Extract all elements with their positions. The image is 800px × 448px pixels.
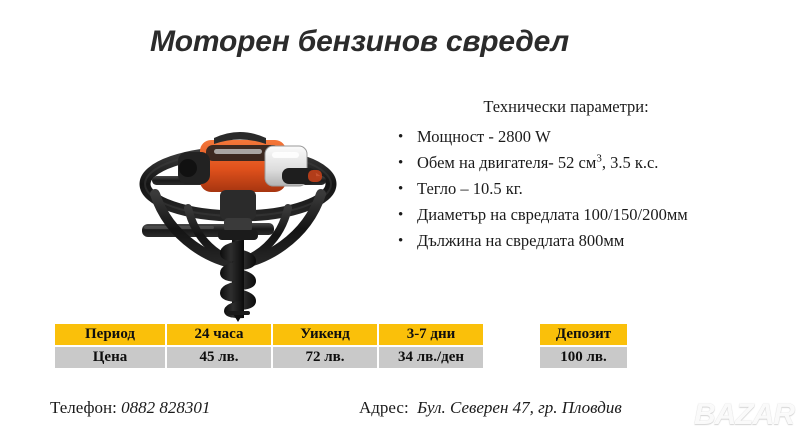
deposit-table: Депозит 100 лв. xyxy=(538,322,629,370)
value-price-label: Цена xyxy=(55,347,165,368)
value-weekend: 72 лв. xyxy=(273,347,377,368)
bullet-icon: • xyxy=(398,124,403,150)
specs-list: • Мощност - 2800 W • Обем на двигателя- … xyxy=(394,124,724,254)
deposit-row: 100 лв. xyxy=(540,347,627,368)
bullet-icon: • xyxy=(398,202,403,228)
table-row: Цена 45 лв. 72 лв. 34 лв./ден xyxy=(55,347,483,368)
spec-text: Дължина на свредлата 800мм xyxy=(417,231,624,250)
value-24h: 45 лв. xyxy=(167,347,271,368)
value-deposit: 100 лв. xyxy=(540,347,627,368)
spec-item-bit-length: • Дължина на свредлата 800мм xyxy=(394,228,724,254)
product-image xyxy=(122,72,354,322)
ad-page: Моторен бензинов свредел xyxy=(0,0,800,448)
specs-heading: Технически параметри: xyxy=(394,96,724,118)
spec-text: Диаметър на свредлата 100/150/200мм xyxy=(417,205,688,224)
gearbox xyxy=(218,190,258,240)
auger-bit xyxy=(220,240,256,322)
spec-text: Мощност - 2800 W xyxy=(417,127,551,146)
bullet-icon: • xyxy=(398,228,403,254)
value-3-7-days: 34 лв./ден xyxy=(379,347,483,368)
contact-address: Адрес: Бул. Северен 47, гр. Пловдив xyxy=(359,396,622,420)
bullet-icon: • xyxy=(398,176,403,202)
price-table: Период 24 часа Уикенд 3-7 дни Цена 45 лв… xyxy=(53,322,485,370)
spec-item-bit-diameter: • Диаметър на свредлата 100/150/200мм xyxy=(394,202,724,228)
header-weekend: Уикенд xyxy=(273,324,377,345)
phone-value[interactable]: 0882 828301 xyxy=(121,398,210,417)
address-value: Бул. Северен 47, гр. Пловдив xyxy=(417,398,622,417)
spec-text-after: , 3.5 к.с. xyxy=(602,153,659,172)
engine-block xyxy=(178,132,322,192)
table-header-row: Период 24 часа Уикенд 3-7 дни xyxy=(55,324,483,345)
bazar-watermark: BAZAR .BG xyxy=(694,398,794,440)
spec-item-weight: • Тегло – 10.5 кг. xyxy=(394,176,724,202)
header-3-7-days: 3-7 дни xyxy=(379,324,483,345)
deposit-header-row: Депозит xyxy=(540,324,627,345)
address-label: Адрес: xyxy=(359,398,409,417)
spec-text-before: Обем на двигателя- 52 см xyxy=(417,153,596,172)
bullet-icon: • xyxy=(398,150,403,176)
spec-item-displacement: • Обем на двигателя- 52 см3, 3.5 к.с. xyxy=(394,150,724,176)
specs-block: Технически параметри: • Мощност - 2800 W… xyxy=(394,96,724,254)
watermark-suffix: .BG xyxy=(694,430,794,439)
watermark-text: BAZAR xyxy=(694,398,794,432)
page-title: Моторен бензинов свредел xyxy=(150,24,710,60)
contact-phone: Телефон: 0882 828301 xyxy=(50,396,210,420)
earth-auger-illustration xyxy=(122,72,354,322)
spec-item-power: • Мощност - 2800 W xyxy=(394,124,724,150)
header-deposit: Депозит xyxy=(540,324,627,345)
header-period: Период xyxy=(55,324,165,345)
phone-label: Телефон: xyxy=(50,398,117,417)
header-24h: 24 часа xyxy=(167,324,271,345)
spec-text: Тегло – 10.5 кг. xyxy=(417,179,523,198)
